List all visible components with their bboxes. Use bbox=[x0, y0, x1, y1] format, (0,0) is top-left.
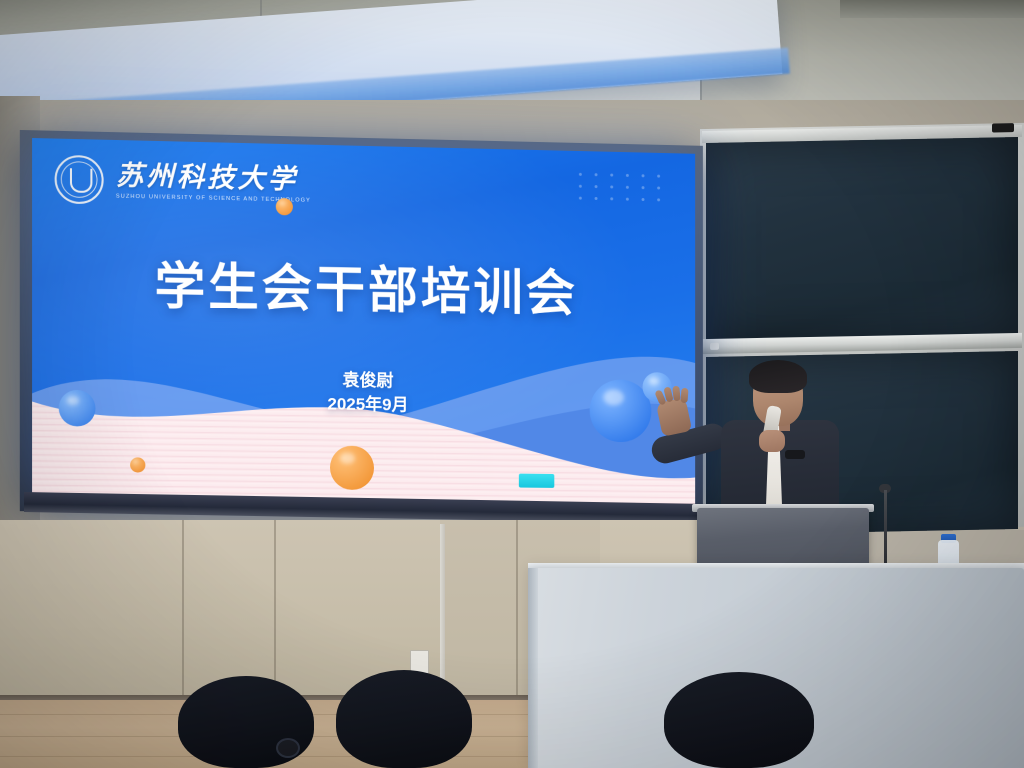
wall-panel-seam bbox=[516, 520, 518, 710]
ceiling-vent bbox=[840, 0, 1024, 18]
university-emblem-icon bbox=[55, 155, 104, 205]
eyeglasses bbox=[276, 738, 300, 758]
gooseneck-microphone-stand bbox=[884, 490, 887, 568]
audience-head-middle bbox=[336, 670, 472, 768]
presenter-finger bbox=[680, 388, 688, 403]
slide-sphere-orange-large bbox=[330, 446, 374, 491]
slide-title: 学生会干部培训会 bbox=[32, 243, 695, 327]
slide-brand: 苏州科技大学 SUZHOU UNIVERSITY OF SCIENCE AND … bbox=[55, 155, 311, 209]
slide-dot-orange-small-left bbox=[130, 457, 145, 472]
presenter-finger bbox=[672, 386, 681, 402]
presentation-screen[interactable]: 苏州科技大学 SUZHOU UNIVERSITY OF SCIENCE AND … bbox=[32, 138, 695, 509]
audience-head-left bbox=[178, 676, 314, 768]
slide-dot-grid bbox=[579, 173, 660, 202]
chalkboard-panel-upper bbox=[706, 137, 1018, 341]
slide-cyan-accent-bar bbox=[519, 474, 554, 488]
chalkboard-marker bbox=[992, 123, 1014, 132]
audience-head-right bbox=[664, 672, 814, 768]
wall-panel-seam bbox=[182, 520, 184, 710]
podium-left-edge bbox=[528, 568, 538, 768]
slide-dot-orange-small-top bbox=[276, 198, 293, 215]
chalk-piece bbox=[710, 343, 719, 350]
slide-brand-cn: 苏州科技大学 bbox=[116, 162, 311, 194]
lecture-hall-scene: 苏州科技大学 SUZHOU UNIVERSITY OF SCIENCE AND … bbox=[0, 0, 1024, 768]
presenter-mic-hand bbox=[759, 430, 785, 452]
wristwatch bbox=[785, 450, 805, 459]
presenter-hair bbox=[749, 360, 807, 393]
